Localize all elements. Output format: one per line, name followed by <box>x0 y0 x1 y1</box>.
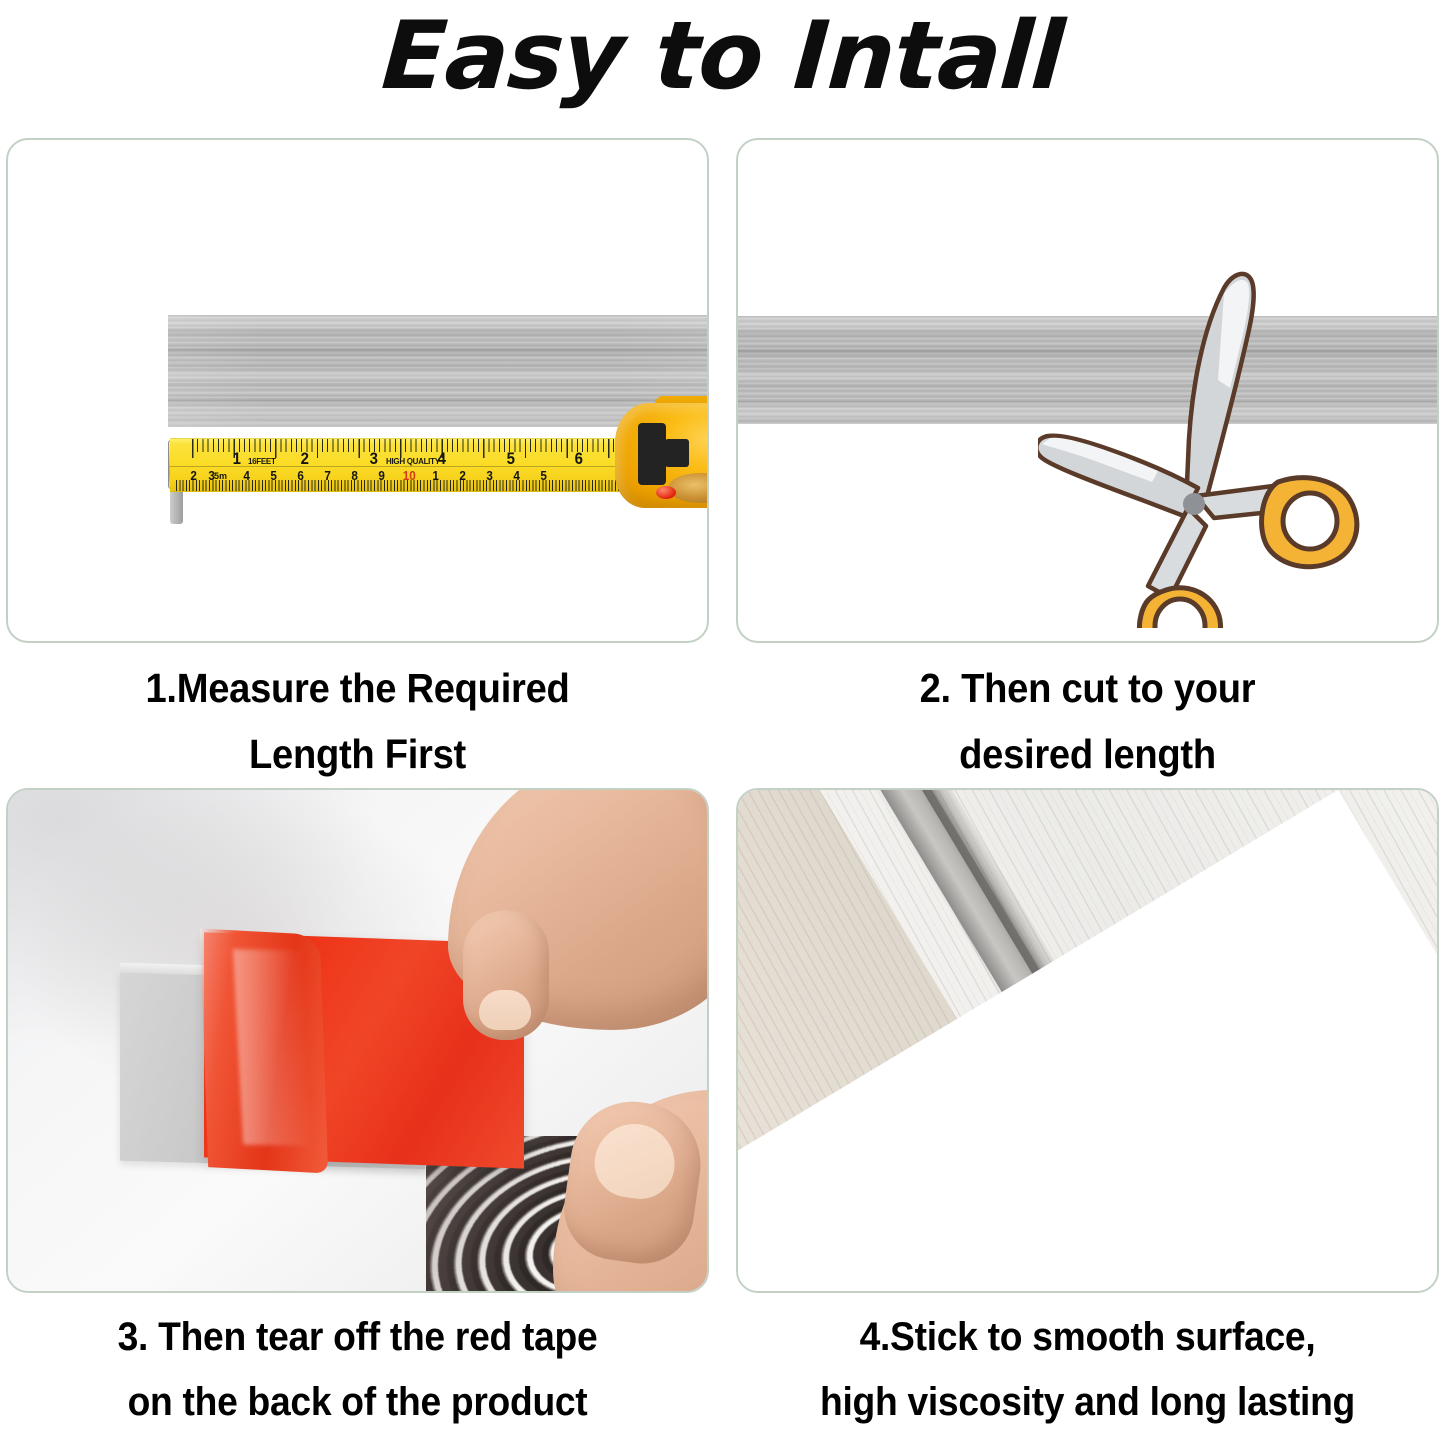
tape-inch-mark: 3 <box>370 449 378 469</box>
step-4-caption-line2: high viscosity and long lasting <box>766 1370 1409 1432</box>
tape-cm-mark: 3 <box>208 468 215 483</box>
tape-measure-blade: 1 2 3 4 5 6 16FEET HIGH QUALITY 5m 2 3 4… <box>170 438 640 492</box>
tape-inch-mark: 5 <box>507 449 515 469</box>
infographic-page: Easy to Intall 1 2 3 4 5 6 16FEET HIGH <box>0 0 1445 1432</box>
tape-cm-mark: 5 <box>270 468 277 483</box>
tape-cm-mark: 4 <box>513 468 520 483</box>
tape-cm-mark: 7 <box>324 468 331 483</box>
steps-grid: 1 2 3 4 5 6 16FEET HIGH QUALITY 5m 2 3 4… <box>6 138 1439 1428</box>
step-2-caption: 2. Then cut to your desired length <box>761 643 1415 788</box>
tape-cm-mark: 10 <box>403 468 416 483</box>
step-3-caption-line2: on the back of the product <box>36 1370 679 1432</box>
tape-inch-mark: 1 <box>233 449 241 469</box>
tape-cm-mark: 3 <box>486 468 493 483</box>
tape-hook-tab-icon <box>170 488 183 524</box>
page-title: Easy to Intall <box>0 4 1445 114</box>
tape-inch-mark: 6 <box>575 449 583 469</box>
tape-cm-mark: 1 <box>432 468 439 483</box>
tape-cm-mark: 4 <box>243 468 250 483</box>
tape-cm-mark: 9 <box>378 468 385 483</box>
tape-cm-mark: 2 <box>459 468 466 483</box>
tape-quality-text: HIGH QUALITY <box>386 457 440 466</box>
step-1-illustration-panel: 1 2 3 4 5 6 16FEET HIGH QUALITY 5m 2 3 4… <box>6 138 709 643</box>
tape-cm-mark: 2 <box>190 468 197 483</box>
step-4-caption: 4.Stick to smooth surface, high viscosit… <box>761 1293 1415 1432</box>
tape-brand-text: 16FEET <box>248 457 276 466</box>
tape-cm-mark: 8 <box>351 468 358 483</box>
tape-cm-mark: 5 <box>540 468 547 483</box>
step-1-caption: 1.Measure the Required Length First <box>31 643 685 788</box>
step-1-caption-line2: Length First <box>36 721 679 787</box>
step-2-caption-line2: desired length <box>766 721 1409 787</box>
thumbnail <box>590 1119 680 1203</box>
red-tape-highlight <box>233 949 313 1146</box>
tape-measure-lock-button <box>638 423 666 485</box>
tape-case-highlight <box>708 428 709 452</box>
step-3-illustration-panel <box>6 788 709 1293</box>
tape-ticks-top-major <box>192 439 640 458</box>
step-2-caption-line1: 2. Then cut to your <box>766 655 1409 721</box>
step-2-illustration-panel <box>736 138 1439 643</box>
tape-inch-mark: 2 <box>301 449 309 469</box>
tape-measure-red-button <box>656 486 676 499</box>
step-1-caption-line1: 1.Measure the Required <box>36 655 679 721</box>
tape-cm-mark: 6 <box>297 468 304 483</box>
step-4-illustration-panel <box>736 788 1439 1293</box>
fingernail <box>479 990 531 1030</box>
index-finger <box>463 910 549 1040</box>
step-3-caption-line1: 3. Then tear off the red tape <box>36 1305 679 1370</box>
step-3-caption: 3. Then tear off the red tape on the bac… <box>31 1293 685 1432</box>
step-4-caption-line1: 4.Stick to smooth surface, <box>766 1305 1409 1370</box>
tape-metric-label: 5m <box>214 471 227 481</box>
scissors-icon <box>1038 268 1368 628</box>
